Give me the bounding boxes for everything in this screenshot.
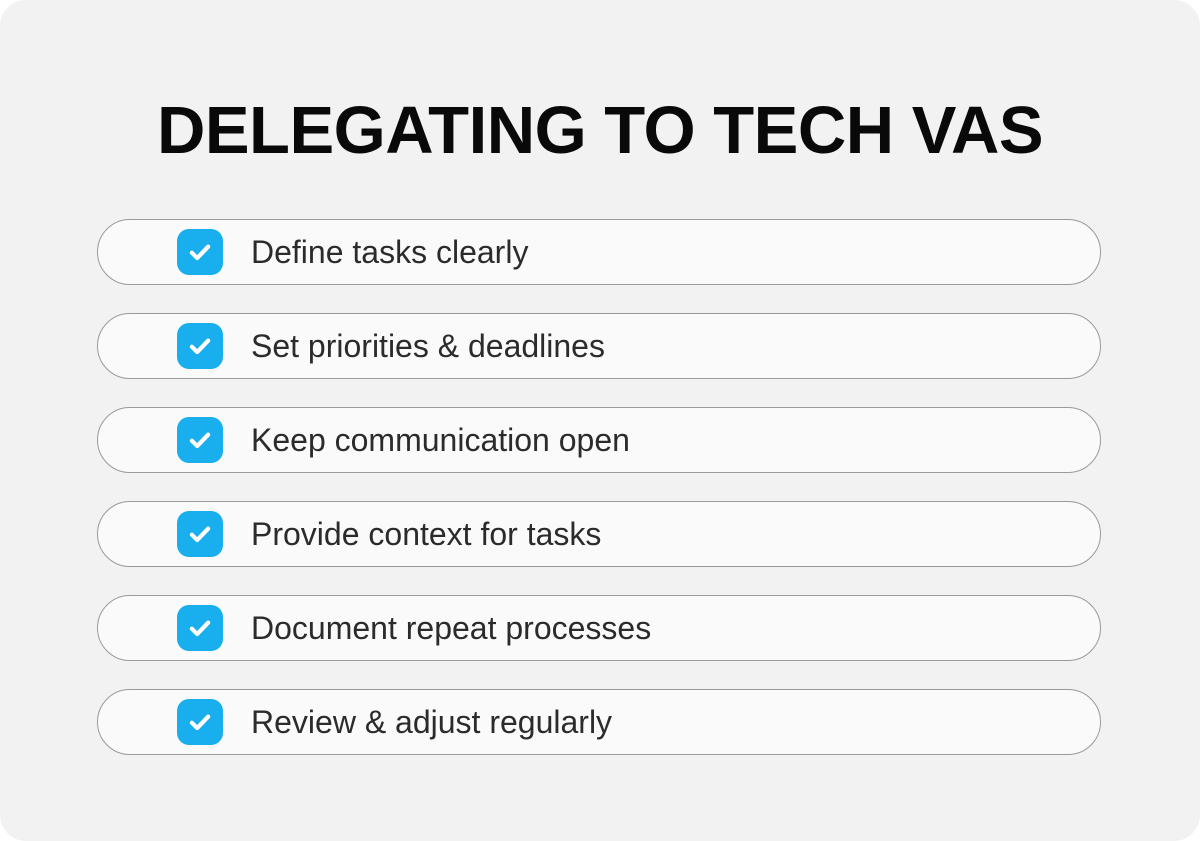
checklist-item-label: Set priorities & deadlines	[251, 330, 605, 362]
checkbox-checked[interactable]	[177, 605, 223, 651]
checklist-item[interactable]: Review & adjust regularly	[97, 689, 1101, 755]
checklist-item[interactable]: Keep communication open	[97, 407, 1101, 473]
check-icon	[186, 520, 214, 548]
checklist: Define tasks clearly Set priorities & de…	[97, 219, 1101, 755]
page-title: DELEGATING TO TECH VAS	[0, 0, 1200, 164]
check-icon	[186, 332, 214, 360]
checkbox-checked[interactable]	[177, 511, 223, 557]
check-icon	[186, 238, 214, 266]
checkbox-checked[interactable]	[177, 323, 223, 369]
checklist-item-label: Provide context for tasks	[251, 518, 601, 550]
checkbox-checked[interactable]	[177, 699, 223, 745]
checklist-item-label: Define tasks clearly	[251, 236, 528, 268]
check-icon	[186, 426, 214, 454]
checkbox-checked[interactable]	[177, 229, 223, 275]
checklist-item-label: Review & adjust regularly	[251, 706, 612, 738]
checklist-item-label: Document repeat processes	[251, 612, 651, 644]
checklist-item-label: Keep communication open	[251, 424, 630, 456]
check-icon	[186, 708, 214, 736]
checklist-item[interactable]: Provide context for tasks	[97, 501, 1101, 567]
checklist-item[interactable]: Define tasks clearly	[97, 219, 1101, 285]
checkbox-checked[interactable]	[177, 417, 223, 463]
checklist-item[interactable]: Document repeat processes	[97, 595, 1101, 661]
checklist-item[interactable]: Set priorities & deadlines	[97, 313, 1101, 379]
infographic-card: DELEGATING TO TECH VAS Define tasks clea…	[0, 0, 1200, 841]
check-icon	[186, 614, 214, 642]
